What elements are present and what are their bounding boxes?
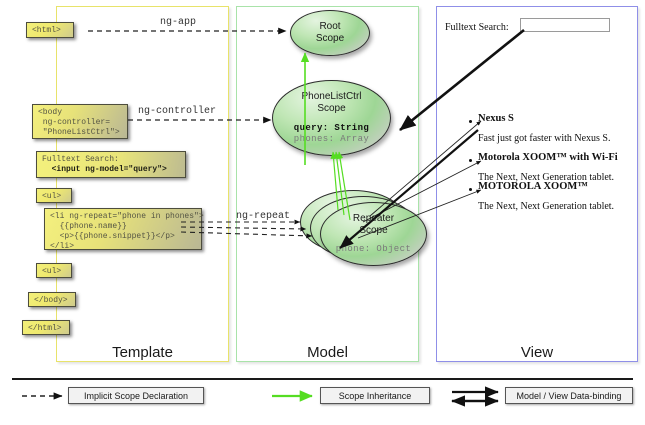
li-line-2: {{phone.name}} [50, 222, 127, 231]
ng-repeat-wire-label: ng-repeat [236, 211, 290, 222]
scope-repeater-prop-phone: phone: Object [336, 244, 411, 255]
list-bullet-1 [469, 120, 472, 123]
view-item-snippet-3: The Next, Next Generation tablet. [478, 201, 614, 212]
code-box-html-open: <html> [26, 22, 74, 38]
view-item-name-1: Nexus S [478, 113, 514, 124]
li-line-1: <li ng-repeat="phone in phones"> [50, 212, 204, 221]
code-box-ul-close: <ul> [36, 263, 72, 278]
view-item-snippet-1: Fast just got faster with Nexus S. [478, 133, 611, 144]
li-line-3: <p>{{phone.snippet}}</p> [50, 232, 175, 241]
model-panel-label: Model [236, 344, 419, 361]
fulltext-search-label-line: Fulltext Search: [42, 155, 119, 164]
scope-phonelistctrl-title-1: PhoneListCtrl [301, 91, 361, 103]
legend-item-model-view-data-binding: Model / View Data-binding [505, 387, 633, 404]
legend-item-scope-inheritance: Scope Inheritance [320, 387, 430, 404]
view-panel-label: View [436, 344, 638, 361]
scope-phonelistctrl-prop-phones: phones: Array [294, 134, 369, 145]
fulltext-search-input-line: <input ng-model="query"> [52, 165, 167, 174]
view-item-name-2: Motorola XOOM™ with Wi-Fi [478, 152, 618, 163]
code-line-3: "PhoneListCtrl"> [38, 128, 120, 137]
view-item-name-3: MOTOROLA XOOM™ [478, 181, 588, 192]
scope-root-title-1: Root [319, 21, 340, 33]
li-line-4: </li> [50, 242, 74, 251]
list-bullet-2 [469, 159, 472, 162]
view-search-label: Fulltext Search: [445, 22, 509, 33]
code-box-body-close: </body> [28, 292, 76, 307]
code-box-fulltext-search: Fulltext Search: <input ng-model="query"… [36, 151, 186, 178]
scope-phonelistctrl-prop-query: query: String [294, 123, 369, 134]
code-box-html-close: </html> [22, 320, 70, 335]
scope-phonelistctrl: PhoneListCtrl Scope query: String phones… [272, 80, 391, 156]
scope-repeater-title-1: Repeater [353, 213, 394, 225]
code-line-1: <body [38, 108, 62, 117]
ng-app-wire-label: ng-app [160, 17, 196, 28]
scope-root: Root Scope [290, 10, 370, 56]
code-box-li-ng-repeat: <li ng-repeat="phone in phones"> {{phone… [44, 208, 202, 250]
ng-controller-wire-label: ng-controller [138, 106, 216, 117]
model-panel [236, 6, 419, 362]
template-panel [56, 6, 229, 362]
scope-root-title-2: Scope [316, 33, 344, 45]
fulltext-search-input[interactable] [520, 18, 610, 32]
code-box-body-controller: <body ng-controller= "PhoneListCtrl"> [32, 104, 128, 139]
scope-repeater-title-2: Scope [359, 225, 387, 237]
list-bullet-3 [469, 188, 472, 191]
legend-divider [12, 378, 633, 380]
code-box-ul-open: <ul> [36, 188, 72, 203]
diagram-root: Template Model View [0, 0, 645, 425]
scope-repeater: Repeater Scope phone: Object [320, 202, 427, 266]
scope-phonelistctrl-title-2: Scope [317, 103, 345, 115]
code-line-2: ng-controller= [38, 118, 110, 127]
legend-item-implicit-scope-declaration: Implicit Scope Declaration [68, 387, 204, 404]
template-panel-label: Template [56, 344, 229, 361]
